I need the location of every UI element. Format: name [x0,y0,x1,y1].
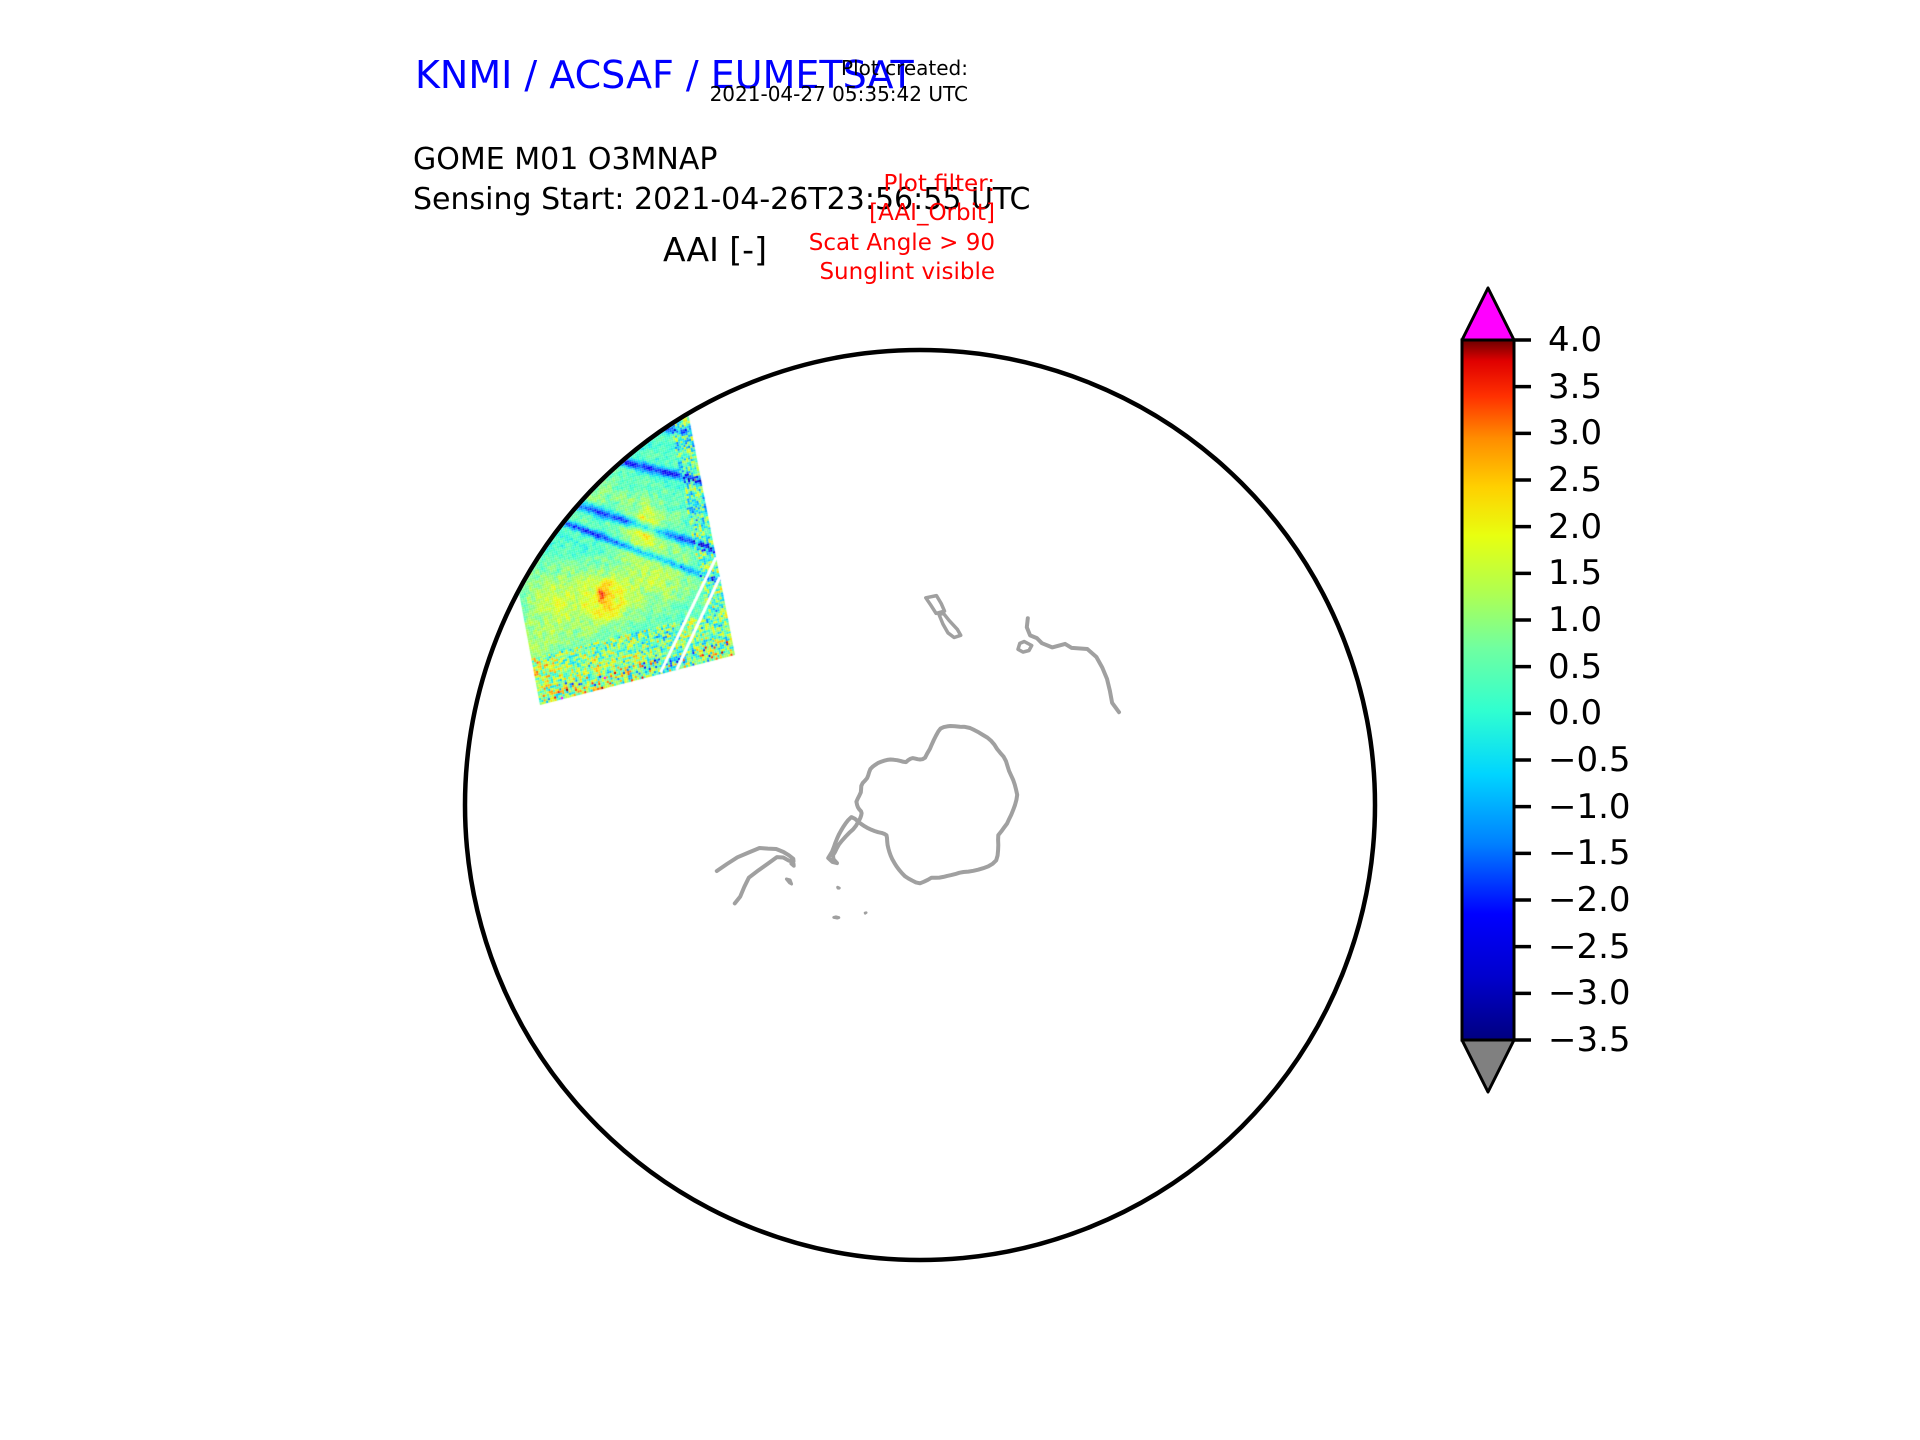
map-outline-layer [390,275,1450,1335]
coastline-antarctica [828,726,1017,883]
colorbar-tick-label: −2.5 [1548,927,1631,967]
plot-created-label: Plot created: [710,56,968,82]
coastline-australia [1027,618,1119,712]
coastline-tierra-del-fuego [791,861,794,866]
plot-canvas: KNMI / ACSAF / EUMETSAT Plot created: 20… [0,0,1920,1440]
coastline-south-georgia [834,917,839,918]
plot-created-timestamp: 2021-04-27 05:35:42 UTC [710,82,968,108]
plot-filter-label: Plot filter: [809,170,995,199]
colorbar-tick-label: −3.5 [1548,1020,1631,1060]
colorbar-tick-label: −1.5 [1548,833,1631,873]
colorbar-tick-label: −3.0 [1548,973,1631,1013]
colorbar-tick-label: 2.5 [1548,460,1602,500]
coastline-new-zealand-south [939,613,961,637]
colorbar-gradient [1440,280,1860,1110]
colorbar-tick-label: 1.5 [1548,553,1602,593]
variable-title: AAI [-] [0,230,1430,269]
plot-created-block: Plot created: 2021-04-27 05:35:42 UTC [710,56,968,107]
coastline-sandwich [865,913,866,914]
colorbar-tick-label: 3.5 [1548,367,1602,407]
coastline-new-zealand-north [926,596,945,614]
colorbar-tick-label: 2.0 [1548,507,1602,547]
colorbar-tick-label: −2.0 [1548,880,1631,920]
colorbar-tick-label: 3.0 [1548,413,1602,453]
colorbar-tick-label: 1.0 [1548,600,1602,640]
globe-outline [465,350,1375,1260]
coastline-falklands [786,879,791,884]
colorbar-tick-label: −0.5 [1548,740,1631,780]
map-panel [390,275,1450,1335]
colorbar-tick-label: 0.5 [1548,647,1602,687]
colorbar-under-arrow [1462,1040,1514,1092]
colorbar-bar [1462,340,1514,1040]
colorbar-tick-label: 0.0 [1548,693,1602,733]
colorbar-tick-label: −1.0 [1548,787,1631,827]
colorbar-over-arrow [1462,288,1514,340]
coastline-south-america [717,848,794,903]
coastline-orkney [838,887,840,888]
plot-filter-block: Plot filter: [AAI_Orbit] Scat Angle > 90… [809,170,995,288]
colorbar-tick-label: 4.0 [1548,320,1602,360]
colorbar-panel: 4.03.53.02.52.01.51.00.50.0−0.5−1.0−1.5−… [1440,280,1860,1110]
coastline-tasmania [1018,642,1032,653]
plot-filter-variable: [AAI_Orbit] [809,199,995,228]
